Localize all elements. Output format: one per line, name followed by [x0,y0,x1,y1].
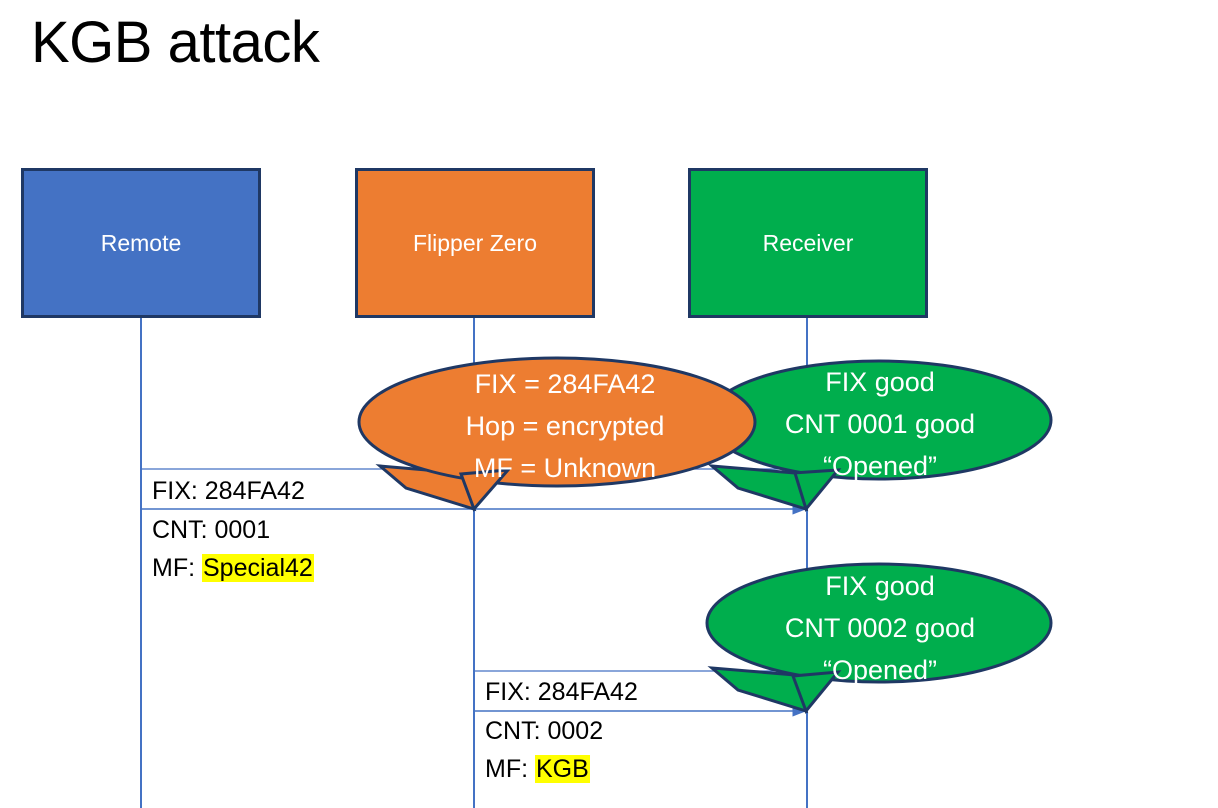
actor-label-receiver: Receiver [763,230,854,256]
message-1-cnt-line: CNT: 0001 [152,511,314,549]
bubble-green-1-line-3: “Opened” [720,445,1040,487]
message-2-cnt-value: 0002 [548,717,604,745]
message-2-mf-prefix: MF: [485,755,535,783]
bubble-orange-line-1: FIX = 284FA42 [380,363,750,405]
actor-box-flipper[interactable]: Flipper Zero [355,168,595,318]
actor-label-remote: Remote [101,230,182,256]
message-2-cnt-prefix: CNT: [485,717,548,745]
bubble-green-1-line-1: FIX good [720,361,1040,403]
speech-bubble-green-2-text: FIX good CNT 0002 good “Opened” [720,565,1040,691]
message-1-mf-value: Special42 [202,554,314,582]
message-1-head: FIX: 284FA42 [152,472,305,510]
message-1-mf-prefix: MF: [152,554,202,582]
speech-bubble-orange-text: FIX = 284FA42 Hop = encrypted MF = Unkno… [380,363,750,489]
message-1-cnt-value: 0001 [215,516,271,544]
message-1-mf-line: MF: Special42 [152,549,314,587]
lifeline-remote [140,318,142,808]
message-1-fix-line: FIX: 284FA42 [152,472,305,510]
actor-box-receiver[interactable]: Receiver [688,168,928,318]
actor-label-flipper: Flipper Zero [413,230,537,256]
message-1-body: CNT: 0001 MF: Special42 [152,511,314,587]
bubble-green-2-line-3: “Opened” [720,649,1040,691]
actor-box-remote[interactable]: Remote [21,168,261,318]
bubble-green-2-line-1: FIX good [720,565,1040,607]
bubble-orange-line-3: MF = Unknown [380,447,750,489]
page-title: KGB attack [31,8,319,78]
message-2-mf-value: KGB [535,755,590,783]
speech-bubble-green-1-text: FIX good CNT 0001 good “Opened” [720,361,1040,487]
message-2-body: CNT: 0002 MF: KGB [485,712,603,788]
bubble-green-1-line-2: CNT 0001 good [720,403,1040,445]
message-2-fix-line: FIX: 284FA42 [485,673,638,711]
bubble-orange-line-2: Hop = encrypted [380,405,750,447]
slide-canvas: KGB attack Remote Flipper Zero Receiver [0,0,1218,808]
message-2-cnt-line: CNT: 0002 [485,712,603,750]
message-2-head: FIX: 284FA42 [485,673,638,711]
bubble-green-2-line-2: CNT 0002 good [720,607,1040,649]
message-2-mf-line: MF: KGB [485,750,603,788]
message-1-cnt-prefix: CNT: [152,516,215,544]
